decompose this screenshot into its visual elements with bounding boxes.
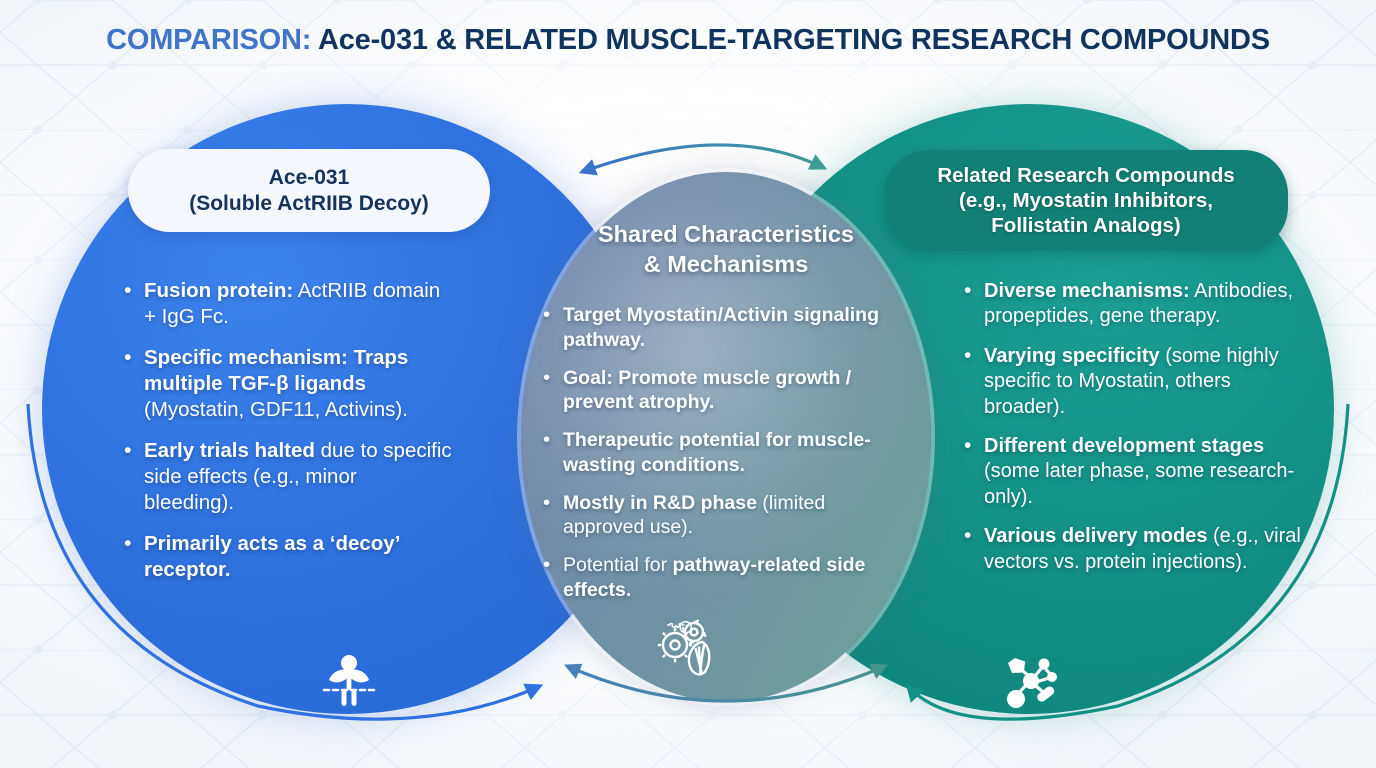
list-item: Target Myostatin/Activin signaling pathw… xyxy=(541,303,911,353)
list-item: Diverse mechanisms: Antibodies, propepti… xyxy=(962,279,1302,330)
list-item: Varying specificity (some highly specifi… xyxy=(962,344,1302,420)
list-item: Therapeutic potential for muscle-wasting… xyxy=(541,428,911,478)
venn-diagram: Ace-031 (Soluble ActRIIB Decoy) Shared C… xyxy=(0,0,1376,768)
list-item: Mostly in R&D phase (limited approved us… xyxy=(541,491,911,541)
left-header-line2: (Soluble ActRIIB Decoy) xyxy=(146,191,472,217)
molecule-icon xyxy=(1000,652,1062,714)
right-header-line3: Follistatin Analogs) xyxy=(902,213,1270,238)
left-header-pill: Ace-031 (Soluble ActRIIB Decoy) xyxy=(128,149,490,232)
list-item: Specific mechanism: Traps multiple TGF-β… xyxy=(122,345,452,423)
list-item: Fusion protein: ActRIIB domain + IgG Fc. xyxy=(122,278,452,330)
center-bullet-list: Target Myostatin/Activin signaling pathw… xyxy=(541,303,911,616)
right-header-pill: Related Research Compounds (e.g., Myosta… xyxy=(884,150,1288,251)
list-item: Early trials halted due to specific side… xyxy=(122,438,452,516)
decoy-receptor-icon xyxy=(318,650,380,712)
center-header: Shared Characteristics & Mechanisms xyxy=(521,220,931,279)
title-accent: COMPARISON: xyxy=(106,24,311,56)
center-header-line1: Shared Characteristics xyxy=(521,220,931,250)
right-header-line2: (e.g., Myostatin Inhibitors, xyxy=(902,188,1270,213)
list-item: Various delivery modes (e.g., viral vect… xyxy=(962,524,1302,575)
list-item: Different development stages (some later… xyxy=(962,434,1302,510)
left-bullet-list: Fusion protein: ActRIIB domain + IgG Fc.… xyxy=(122,278,452,598)
title-main: Ace-031 & RELATED MUSCLE-TARGETING RESEA… xyxy=(318,24,1270,56)
list-item: Primarily acts as a ‘decoy’ receptor. xyxy=(122,531,452,583)
gears-muscle-icon xyxy=(650,618,722,680)
list-item: Goal: Promote muscle growth / prevent at… xyxy=(541,366,911,416)
page-title: COMPARISON: Ace-031 & RELATED MUSCLE-TAR… xyxy=(0,24,1376,57)
list-item: Potential for pathway-related side effec… xyxy=(541,553,911,603)
center-header-line2: & Mechanisms xyxy=(521,250,931,280)
right-bullet-list: Diverse mechanisms: Antibodies, propepti… xyxy=(962,279,1302,589)
left-header-line1: Ace-031 xyxy=(146,165,472,191)
right-header-line1: Related Research Compounds xyxy=(902,163,1270,188)
